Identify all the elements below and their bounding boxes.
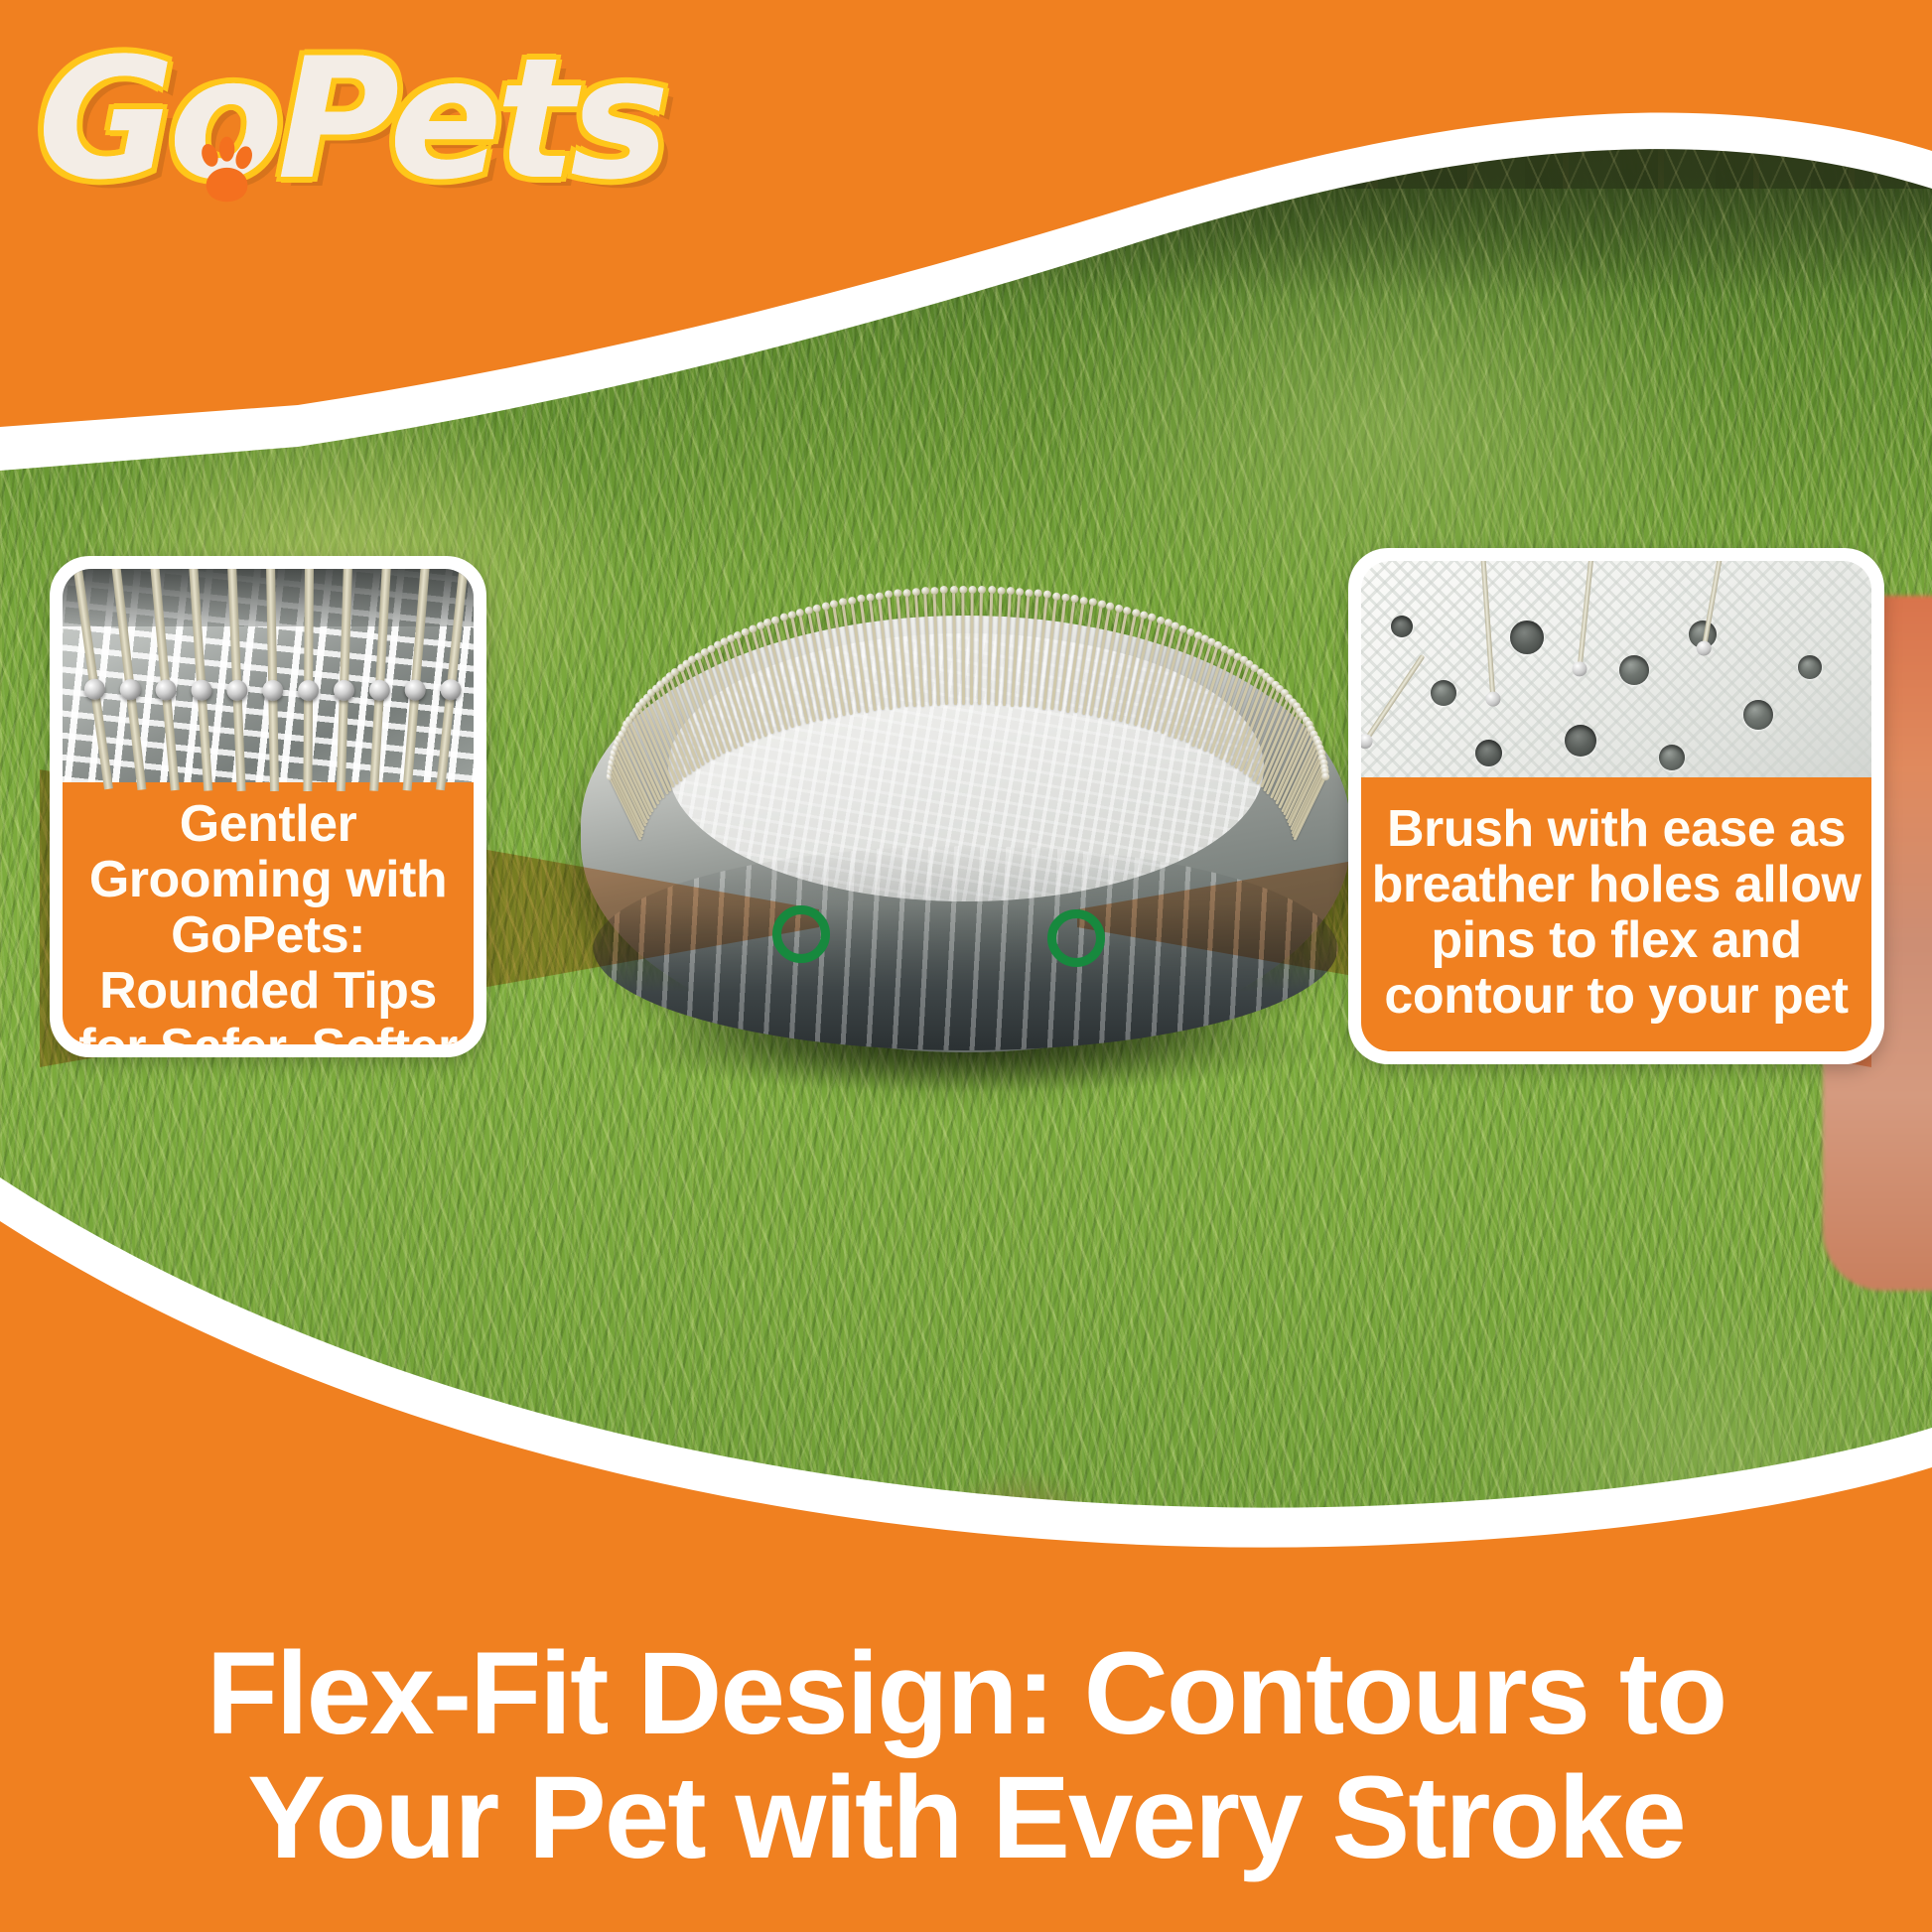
logo-wordmark: GoPets — [38, 36, 504, 203]
feature-card-left-inner: Gentler Grooming with GoPets: Rounded Ti… — [63, 569, 474, 1044]
headline-line-2: Your Pet with Every Stroke — [52, 1756, 1880, 1880]
feature-card-left[interactable]: Gentler Grooming with GoPets: Rounded Ti… — [50, 556, 486, 1057]
breather-hole — [1510, 621, 1544, 654]
feature-card-left-caption: Gentler Grooming with GoPets: Rounded Ti… — [63, 782, 474, 1044]
headline-line-1: Flex-Fit Design: Contours to — [52, 1632, 1880, 1756]
feature-card-right-inner: Brush with ease as breather holes allow … — [1361, 561, 1871, 1051]
brush-pin — [1480, 561, 1495, 700]
brush-pin — [1577, 561, 1594, 670]
breather-hole — [1475, 740, 1502, 766]
breather-hole — [1743, 700, 1773, 730]
annotation-ring-left — [772, 905, 830, 963]
infographic-canvas: GoPets Gentler Grooming with GoPets: Rou… — [0, 0, 1932, 1932]
annotation-ring-right — [1047, 909, 1105, 967]
paw-print-icon — [187, 131, 264, 210]
brush-pin — [961, 591, 965, 705]
headline-banner: Flex-Fit Design: Contours to Your Pet wi… — [0, 1632, 1932, 1880]
slicker-brush-product-photo — [581, 556, 1350, 1072]
breather-holes-closeup-photo — [1361, 561, 1871, 777]
gopets-logo[interactable]: GoPets — [38, 36, 504, 254]
brush-pin — [303, 569, 314, 791]
breather-hole — [1431, 680, 1456, 706]
breather-hole — [1565, 725, 1596, 757]
feature-card-right-caption: Brush with ease as breather holes allow … — [1361, 777, 1871, 1051]
breather-hole — [1391, 616, 1413, 637]
brush-pin — [1363, 654, 1426, 744]
breather-hole — [1659, 745, 1685, 770]
brush-pins-closeup-photo — [63, 569, 474, 782]
breather-hole — [1619, 655, 1649, 685]
feature-card-right[interactable]: Brush with ease as breather holes allow … — [1348, 548, 1884, 1064]
breather-hole — [1798, 655, 1822, 679]
